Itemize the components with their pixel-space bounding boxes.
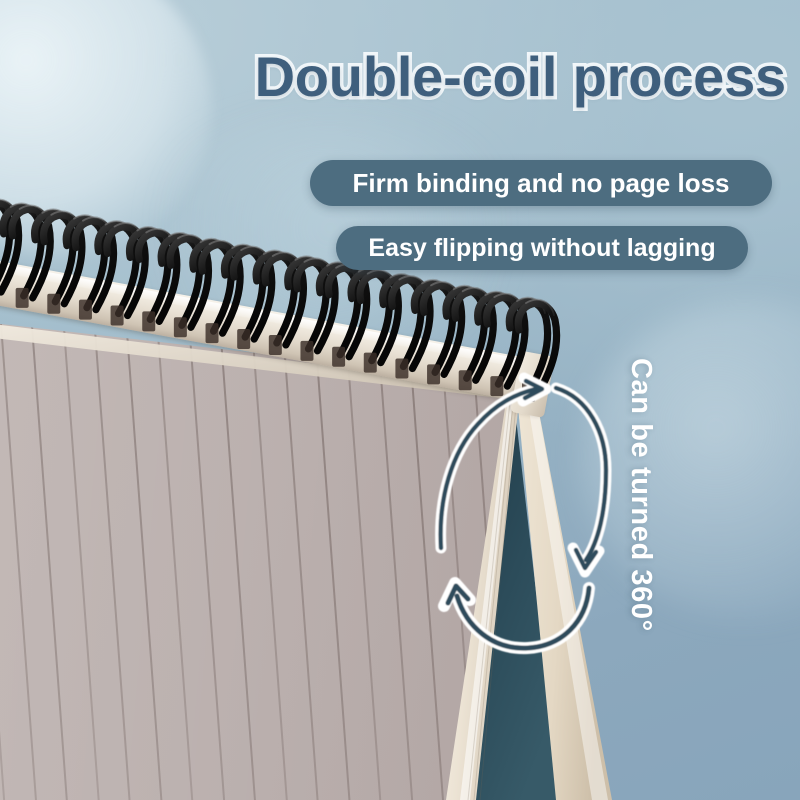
page-title: Double-coil process <box>0 44 786 109</box>
feature-badge-label: Firm binding and no page loss <box>352 168 729 199</box>
rotate-arrow-sweep-icon <box>444 583 589 648</box>
vertical-callout-360: Can be turned 360° <box>624 358 657 688</box>
rotation-arrow-group <box>0 0 800 800</box>
feature-badge-easy-flipping: Easy flipping without lagging <box>336 226 748 270</box>
feature-badge-firm-binding: Firm binding and no page loss <box>310 160 772 206</box>
feature-badge-label: Easy flipping without lagging <box>368 234 715 263</box>
rotate-arrow-down-right-icon <box>556 388 606 572</box>
rotate-arrow-up-left-icon <box>441 378 546 548</box>
product-feature-image: Double-coil process Firm binding and no … <box>0 0 800 800</box>
